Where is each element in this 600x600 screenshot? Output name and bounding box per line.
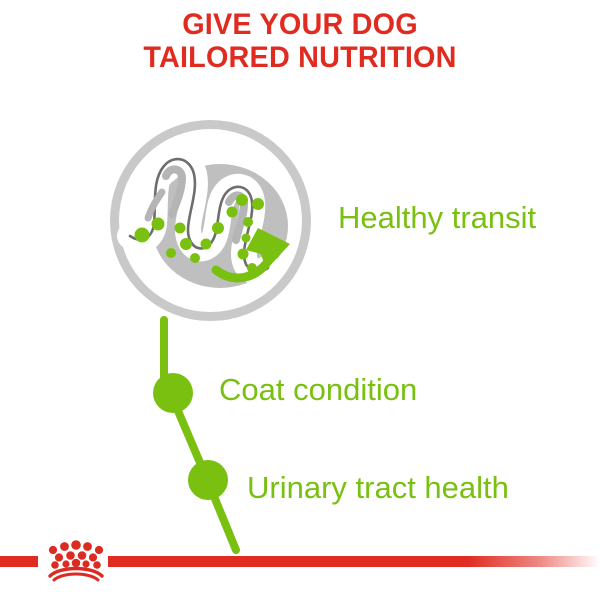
- connector-node-coat: [153, 373, 193, 413]
- benefit-label-healthy-transit: Healthy transit: [338, 201, 536, 235]
- headline-line-2: TAILORED NUTRITION: [12, 41, 588, 74]
- connector-node-urinary: [188, 460, 228, 500]
- brand-bar-right-segment: [108, 556, 600, 567]
- digestive-transit-icon: [108, 118, 313, 323]
- brand-bar-left-segment: [0, 556, 38, 567]
- benefit-label-coat-condition: Coat condition: [219, 373, 417, 407]
- page-title: GIVE YOUR DOG TAILORED NUTRITION: [12, 8, 588, 74]
- royal-canin-crown-logo: [42, 536, 110, 584]
- benefit-label-urinary-tract-health: Urinary tract health: [247, 471, 509, 505]
- benefit-connector-line: [120, 300, 300, 570]
- headline-line-1: GIVE YOUR DOG: [12, 8, 588, 41]
- product-benefits-poster: GIVE YOUR DOG TAILORED NUTRITION: [0, 0, 600, 600]
